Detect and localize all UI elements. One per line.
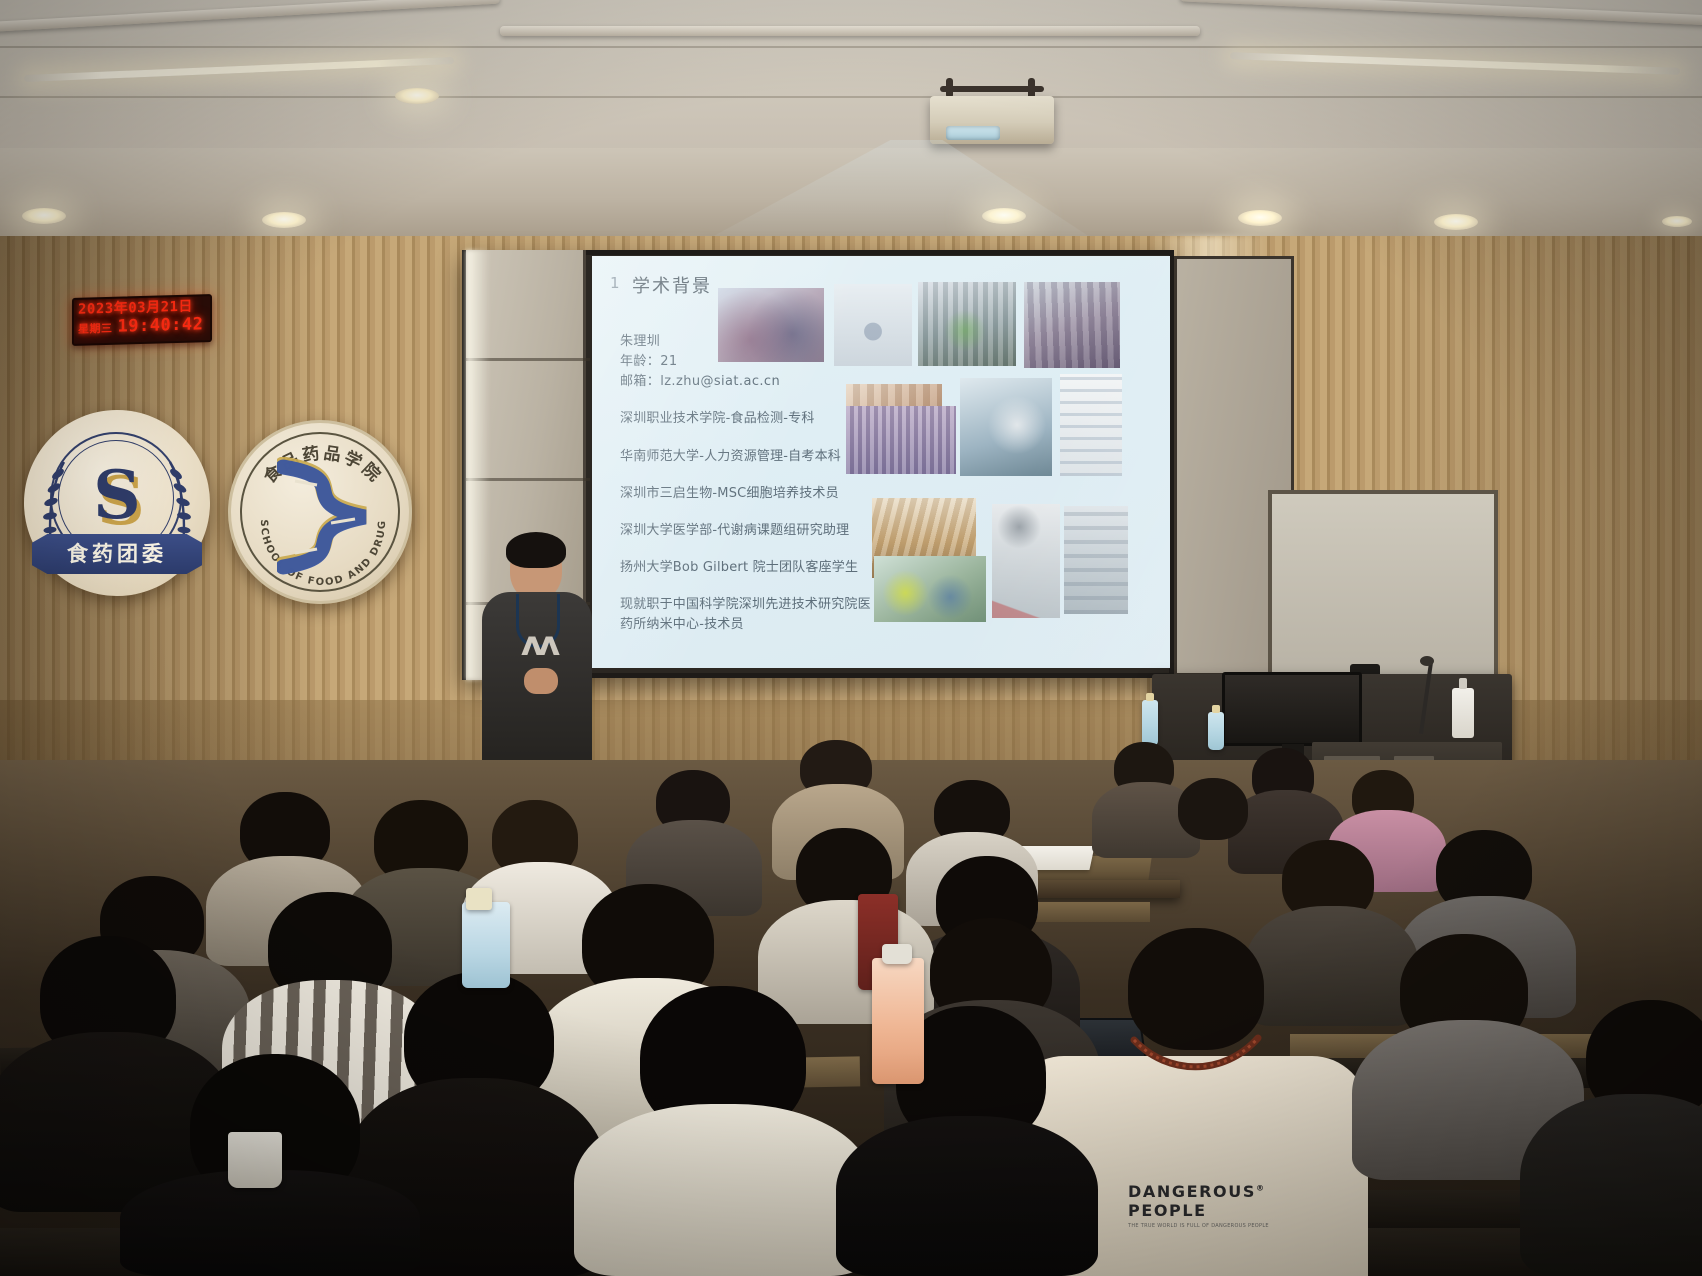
downlight bbox=[22, 208, 66, 224]
water-bottle bbox=[466, 888, 492, 910]
emblem-monogram: S bbox=[78, 456, 156, 534]
wall-whiteboard bbox=[1268, 490, 1498, 698]
emblem-youth-league: S 食药团委 bbox=[24, 410, 210, 596]
tshirt-line-1: DANGEROUS® bbox=[1128, 1183, 1318, 1202]
gooseneck-microphone-head bbox=[1420, 656, 1434, 666]
slide-body-text: 朱理圳 年龄：21 邮箱：lz.zhu@siat.ac.cn 深圳职业技术学院-… bbox=[620, 332, 890, 634]
slide-current-position: 现就职于中国科学院深圳先进技术研究院医药所纳米中心-技术员 bbox=[620, 595, 882, 634]
audience-shoulders bbox=[1520, 1094, 1702, 1276]
projector-mount bbox=[940, 78, 1050, 98]
beaded-necklace bbox=[1128, 1032, 1264, 1082]
projector bbox=[930, 96, 1054, 144]
slide-photo bbox=[874, 556, 986, 622]
bottle-cap bbox=[882, 944, 912, 964]
ceiling-soffit bbox=[0, 148, 1702, 244]
slide-presenter-name: 朱理圳 bbox=[620, 332, 890, 352]
slide-entry: 深圳职业技术学院-食品检测-专科 bbox=[620, 409, 890, 429]
slide-photo bbox=[1060, 374, 1122, 476]
water-bottle bbox=[1142, 700, 1158, 746]
presenter-hands bbox=[524, 668, 558, 694]
led-clock-display: 2023年03月21日 星期三 19:40:42 bbox=[72, 294, 212, 346]
slide-title: 学术背景 bbox=[632, 272, 712, 298]
presenter-shirt-graphic: ʌʌ bbox=[512, 624, 564, 666]
downlight bbox=[262, 212, 306, 228]
downlight bbox=[1662, 216, 1692, 227]
cove-light-right bbox=[1230, 52, 1680, 75]
downlight bbox=[982, 208, 1026, 224]
slide-entry: 扬州大学Bob Gilbert 院士团队客座学生 bbox=[620, 558, 890, 578]
led-clock-time: 19:40:42 bbox=[118, 316, 204, 335]
ceiling bbox=[0, 0, 1702, 240]
projected-slide: 1 学术背景 bbox=[592, 256, 1170, 668]
tshirt-small-print: THE TRUE WORLD IS FULL OF DANGEROUS PEOP… bbox=[1128, 1224, 1318, 1230]
downlight bbox=[1238, 210, 1282, 226]
slide-section-number: 1 bbox=[610, 274, 620, 292]
emblem-school-of-food-and-drug: 食品药品学院 SCHOOL OF FOOD AND DRUG bbox=[228, 420, 412, 604]
audience-shoulders bbox=[1246, 906, 1418, 1026]
dna-helix-icon bbox=[277, 457, 371, 575]
presenter-hair bbox=[506, 532, 566, 568]
registered-trademark-icon: ® bbox=[1256, 1184, 1266, 1193]
tshirt-line-2: PEOPLE bbox=[1128, 1202, 1318, 1221]
slide-presenter-age: 年龄：21 bbox=[620, 352, 890, 372]
slide-photo bbox=[1024, 282, 1120, 368]
lectern-monitor bbox=[1222, 672, 1362, 746]
led-clock-time-row: 星期三 19:40:42 bbox=[78, 316, 206, 337]
hand-sanitizer bbox=[1452, 688, 1474, 738]
slide-photo bbox=[918, 282, 1016, 366]
presenter: ʌʌ bbox=[476, 532, 594, 772]
slide-presenter-email: 邮箱：lz.zhu@siat.ac.cn bbox=[620, 372, 890, 392]
slide-photo bbox=[960, 378, 1052, 476]
cup bbox=[228, 1132, 282, 1188]
slide-entry: 深圳大学医学部-代谢病课题组研究助理 bbox=[620, 521, 890, 541]
desk-row bbox=[1030, 902, 1150, 922]
water-bottle bbox=[462, 902, 510, 988]
slide-entry: 华南师范大学-人力资源管理-自考本科 bbox=[620, 447, 890, 467]
slide-entry: 深圳市三启生物-MSC细胞培养技术员 bbox=[620, 484, 890, 504]
slide-photo bbox=[992, 504, 1060, 618]
audience-head bbox=[1178, 778, 1248, 840]
led-clock-weekday: 星期三 bbox=[78, 323, 113, 335]
downlight bbox=[1434, 214, 1478, 230]
lecture-hall-scene: 2023年03月21日 星期三 19:40:42 bbox=[0, 0, 1702, 1276]
drink-bottle bbox=[872, 958, 924, 1084]
downlight bbox=[395, 88, 439, 104]
water-bottle bbox=[1208, 712, 1224, 750]
emblem-ribbon-label: 食药团委 bbox=[32, 534, 202, 574]
cove-light-left bbox=[24, 57, 454, 82]
audience-shoulders bbox=[574, 1104, 872, 1276]
audience-shoulders bbox=[836, 1116, 1098, 1276]
tshirt-print: DANGEROUS® PEOPLE THE TRUE WORLD IS FULL… bbox=[1128, 1183, 1318, 1230]
slide-photo bbox=[1064, 506, 1128, 614]
